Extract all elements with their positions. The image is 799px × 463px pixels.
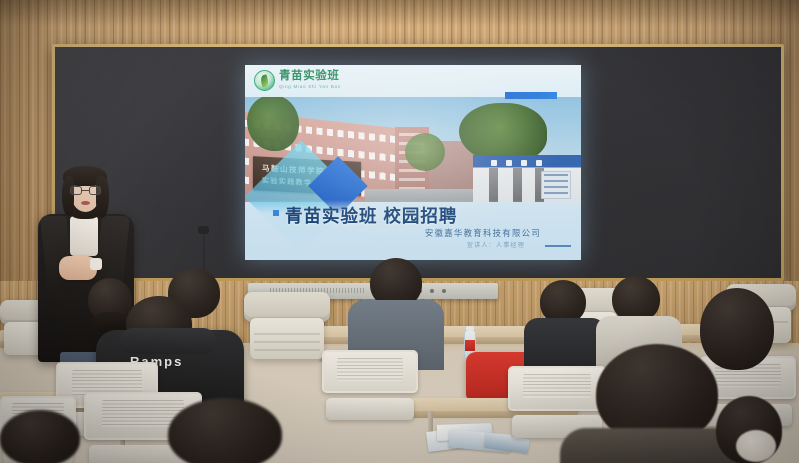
gatehouse-sign <box>481 158 581 167</box>
presentation-slide: 青苗实验班 Qing Miao Shi Yan Ban <box>245 65 581 260</box>
sprout-icon <box>254 70 275 91</box>
notice-board <box>541 171 571 199</box>
presenter-cuff <box>90 258 102 270</box>
slide-subtitle: 安徽嘉华教育科技有限公司 <box>425 227 541 239</box>
brand-name-cn: 青苗实验班 <box>279 71 341 83</box>
tree-left <box>247 97 299 151</box>
slide-title-zone: 青苗实验班 校园招聘 安徽嘉华教育科技有限公司 宣讲人：人事经理 <box>245 200 581 260</box>
glasses-icon <box>70 186 101 195</box>
projection-board-frame: 青苗实验班 Qing Miao Shi Yan Ban <box>52 44 784 281</box>
audience-torso-4 <box>524 318 606 368</box>
console-knob-2 <box>430 289 434 293</box>
console-knob-3 <box>442 289 446 293</box>
chair-mid-3 <box>322 350 418 420</box>
slide-presenter-line: 宣讲人：人事经理 <box>467 240 525 249</box>
gate-pillar-2 <box>513 168 522 202</box>
microphone-icon <box>198 226 209 234</box>
lecture-room-photo: 青苗实验班 Qing Miao Shi Yan Ban <box>0 0 799 463</box>
slide-title: 青苗实验班 校园招聘 <box>285 203 457 228</box>
gate-pillar-1 <box>489 168 498 202</box>
foreground-head-far-left <box>0 410 80 463</box>
presenter-hair-left <box>62 176 74 216</box>
title-bullet-square <box>273 210 279 216</box>
bottle-cap <box>466 326 474 331</box>
hair-scrunchie <box>736 430 776 462</box>
projection-board-surface: 青苗实验班 Qing Miao Shi Yan Ban <box>55 47 781 278</box>
title-underline <box>545 245 571 247</box>
foreground-head-left <box>168 398 282 463</box>
brand-logo: 青苗实验班 Qing Miao Shi Yan Ban <box>254 70 341 91</box>
audience-head-6 <box>700 288 774 370</box>
hoodie-hood <box>120 328 216 354</box>
presenter-top <box>70 216 98 256</box>
ceiling-shadow <box>0 0 799 26</box>
presenter-mouth <box>81 201 90 205</box>
tree-mid <box>405 133 445 171</box>
lounge-chair-center <box>244 292 330 358</box>
brand-name-pinyin: Qing Miao Shi Yan Ban <box>279 85 341 90</box>
presenter-hair-right <box>96 176 109 218</box>
accent-bar <box>505 92 557 99</box>
tree-right <box>459 103 547 163</box>
